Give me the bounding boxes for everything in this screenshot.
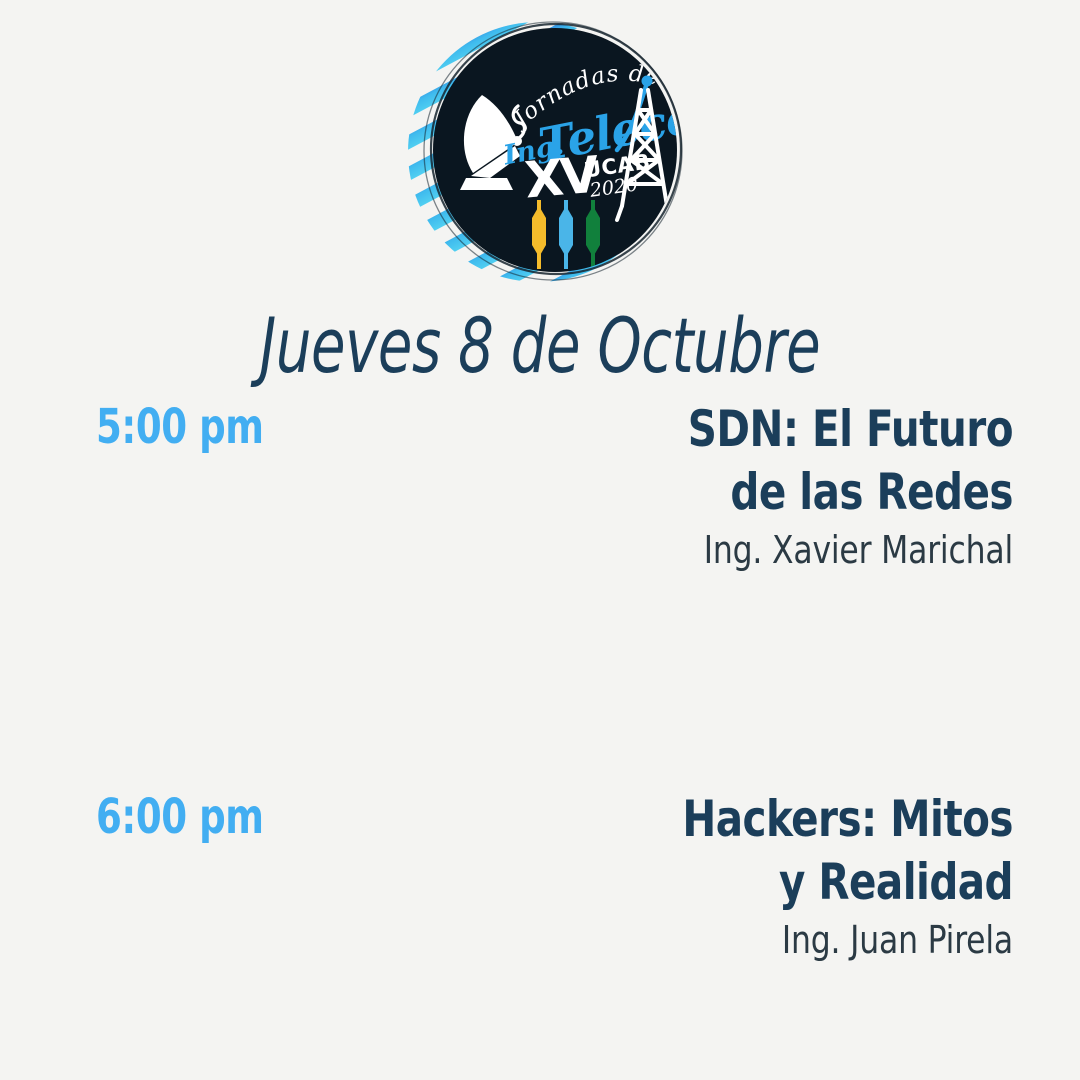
session-time: 6:00 pm: [96, 788, 264, 846]
session-title-line2: y Realidad: [545, 851, 1013, 914]
session-speaker: Ing. Juan Pirela: [535, 916, 1013, 964]
tower-signal-dot-icon: [642, 76, 653, 87]
session-title-line2: de las Redes: [545, 461, 1013, 524]
event-logo: Jornadas de Ing. Telecom XV UCAB 2020: [0, 0, 1080, 300]
schedule-session: 5:00 pm SDN: El Futuro de las Redes Ing.…: [0, 398, 1080, 788]
session-time: 5:00 pm: [96, 398, 264, 456]
session-speaker: Ing. Xavier Marichal: [535, 526, 1013, 574]
schedule-list: 5:00 pm SDN: El Futuro de las Redes Ing.…: [0, 398, 1080, 1048]
session-details: SDN: El Futuro de las Redes Ing. Xavier …: [493, 398, 1013, 574]
session-title-line1: SDN: El Futuro: [545, 398, 1013, 461]
schedule-session: 6:00 pm Hackers: Mitos y Realidad Ing. J…: [0, 788, 1080, 1048]
logo-graphic: Jornadas de Ing. Telecom XV UCAB 2020: [370, 10, 710, 295]
session-details: Hackers: Mitos y Realidad Ing. Juan Pire…: [493, 788, 1013, 964]
session-title-line1: Hackers: Mitos: [545, 788, 1013, 851]
page-title: Jueves 8 de Octubre: [97, 301, 983, 391]
